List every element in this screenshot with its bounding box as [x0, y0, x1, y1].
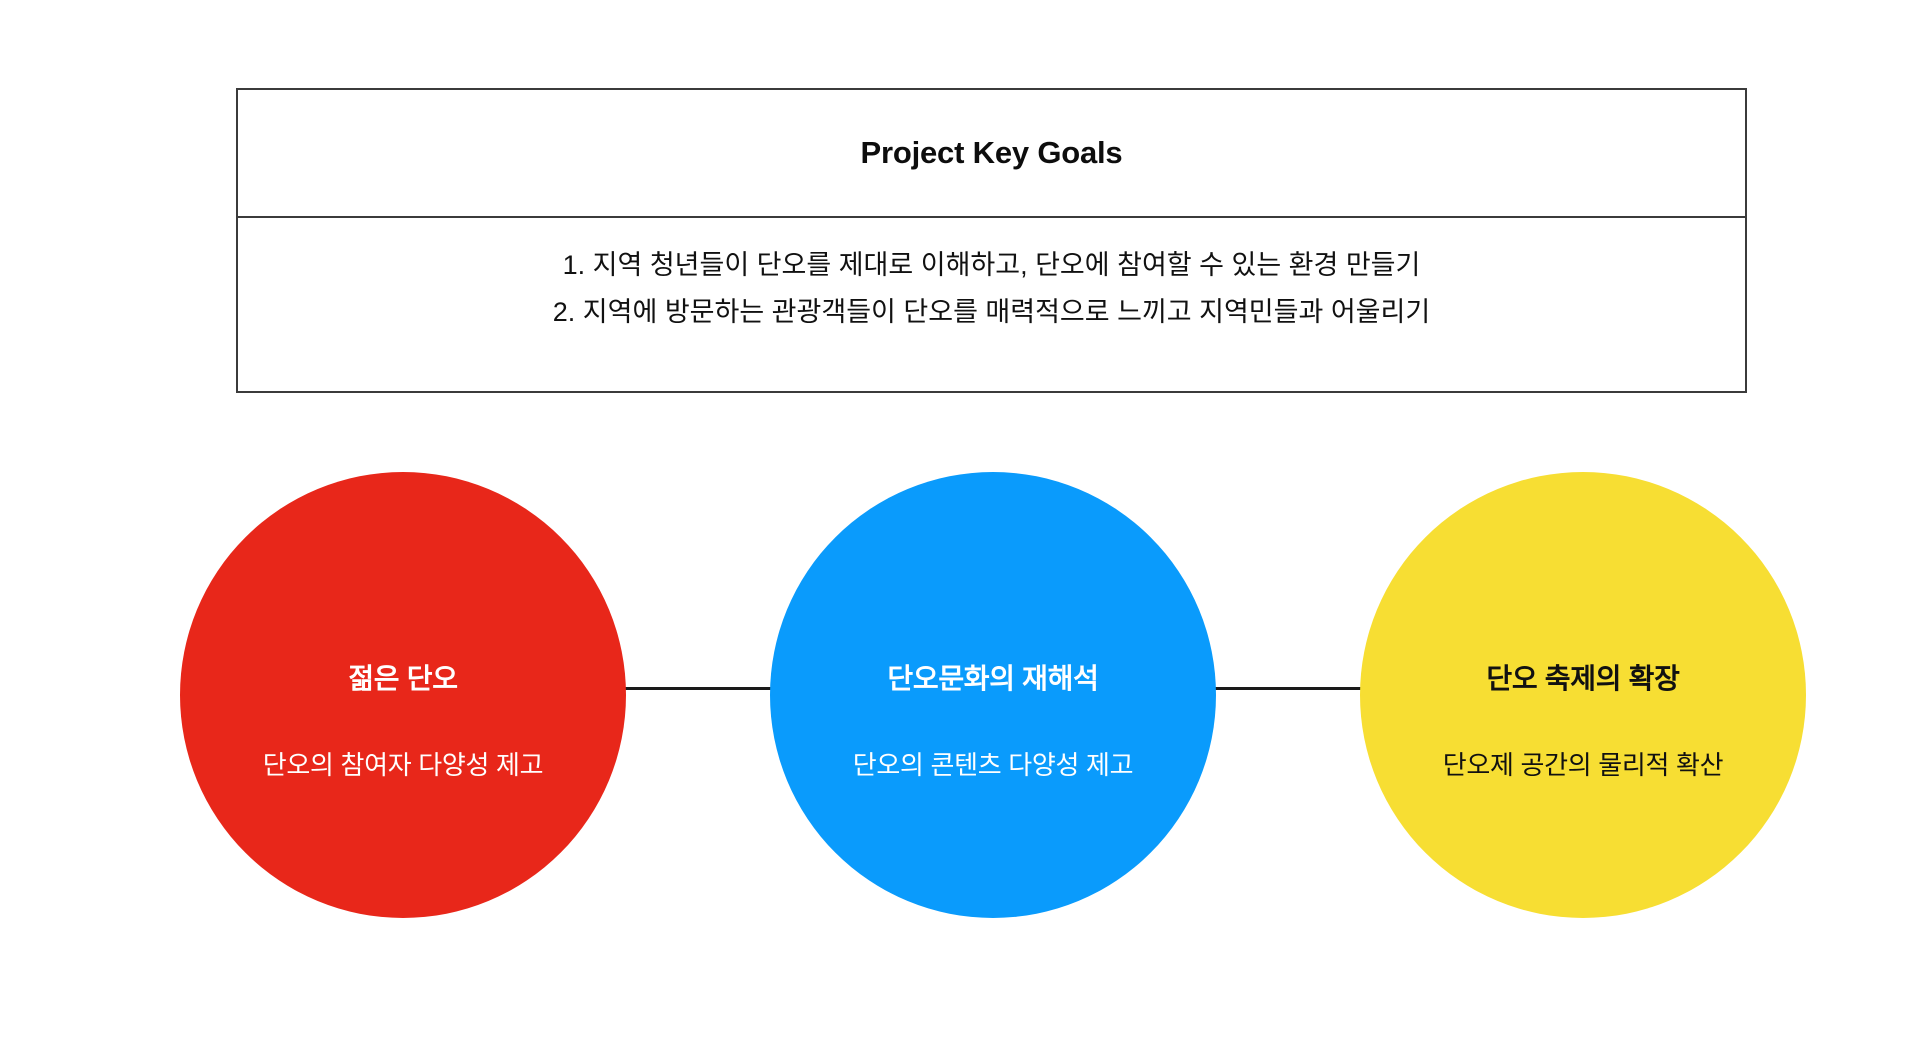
- project-key-goals-table: Project Key Goals 1. 지역 청년들이 단오를 제대로 이해하…: [236, 88, 1747, 393]
- goal-item-1: 1. 지역 청년들이 단오를 제대로 이해하고, 단오에 참여할 수 있는 환경…: [563, 242, 1421, 289]
- pillar-title-young-danoh: 젊은 단오: [348, 657, 457, 697]
- pillar-circle-festival-expansion: 단오 축제의 확장 단오제 공간의 물리적 확산: [1360, 472, 1806, 918]
- goals-table-body-row: 1. 지역 청년들이 단오를 제대로 이해하고, 단오에 참여할 수 있는 환경…: [238, 218, 1745, 391]
- pillar-circle-reinterpretation: 단오문화의 재해석 단오의 콘텐츠 다양성 제고: [770, 472, 1216, 918]
- pillar-text-block: 단오문화의 재해석 단오의 콘텐츠 다양성 제고: [853, 657, 1134, 782]
- page-title: Project Key Goals: [861, 135, 1123, 171]
- pillar-subtitle-reinterpretation: 단오의 콘텐츠 다양성 제고: [853, 745, 1134, 782]
- pillar-title-festival-expansion: 단오 축제의 확장: [1486, 657, 1679, 697]
- pillar-subtitle-festival-expansion: 단오제 공간의 물리적 확산: [1443, 745, 1724, 782]
- goal-item-2: 2. 지역에 방문하는 관광객들이 단오를 매력적으로 느끼고 지역민들과 어울…: [553, 289, 1430, 336]
- pillar-circle-young-danoh: 젊은 단오 단오의 참여자 다양성 제고: [180, 472, 626, 918]
- pillar-text-block: 단오 축제의 확장 단오제 공간의 물리적 확산: [1443, 657, 1724, 782]
- pillar-subtitle-young-danoh: 단오의 참여자 다양성 제고: [263, 745, 544, 782]
- connector-line-blue-yellow: [1208, 687, 1366, 690]
- pillar-title-reinterpretation: 단오문화의 재해석: [887, 657, 1098, 697]
- goals-table-header-row: Project Key Goals: [238, 90, 1745, 218]
- pillar-text-block: 젊은 단오 단오의 참여자 다양성 제고: [263, 657, 544, 782]
- connector-line-red-blue: [618, 687, 778, 690]
